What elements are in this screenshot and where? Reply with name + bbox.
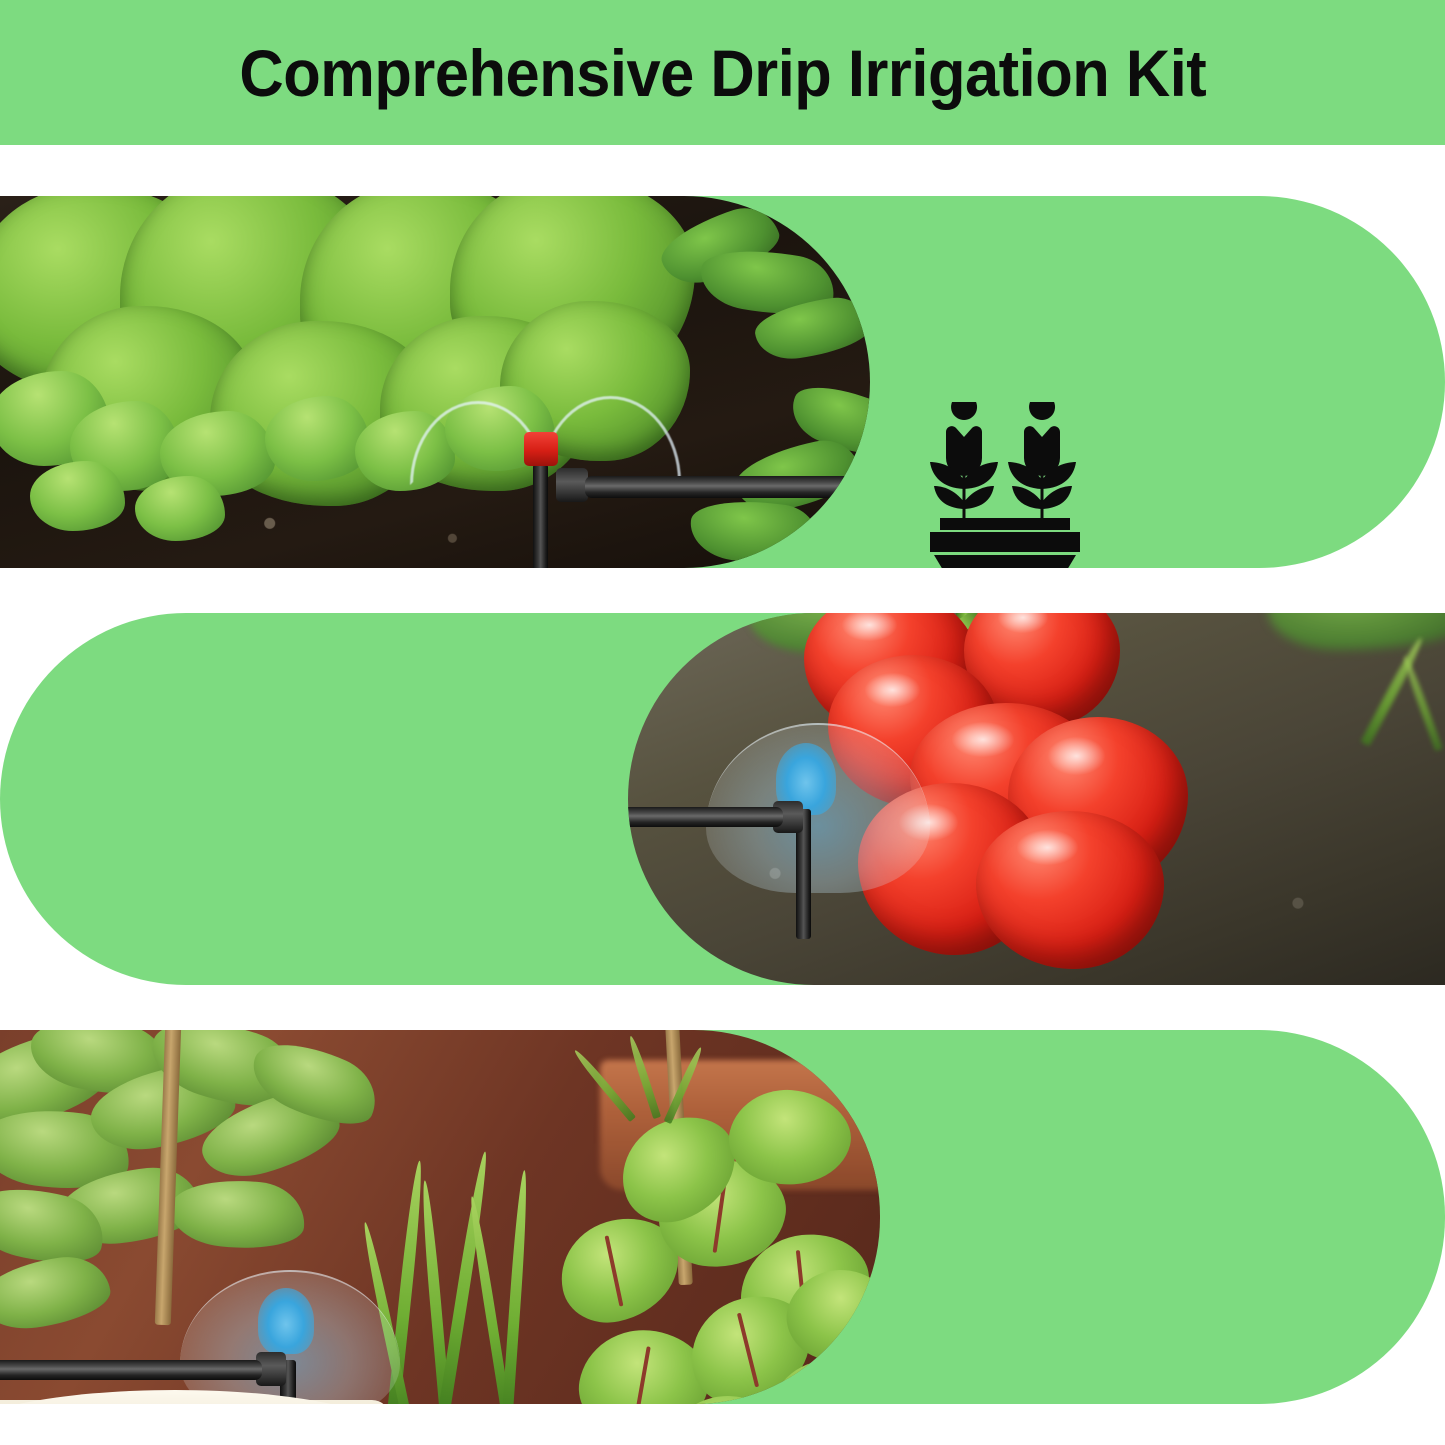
feature-row-square-feet: UP TO 300 SQARE FEET <box>0 613 1445 985</box>
feature-row-raised-beds: UP TO 9 RAISED BEDS <box>0 196 1445 568</box>
page-title: Comprehensive Drip Irrigation Kit <box>239 35 1206 111</box>
tomatoes-with-blue-sprayer-photo <box>628 613 1445 985</box>
raised-bed-planter-icon <box>918 402 1093 568</box>
feature-row-pots-covered: UP TO 82 POTS COVERED <box>0 1030 1445 1404</box>
patio-container-pots-photo <box>0 1030 880 1404</box>
title-banner: Comprehensive Drip Irrigation Kit <box>0 0 1445 145</box>
celery-bed-with-red-dripper-photo <box>0 196 870 568</box>
